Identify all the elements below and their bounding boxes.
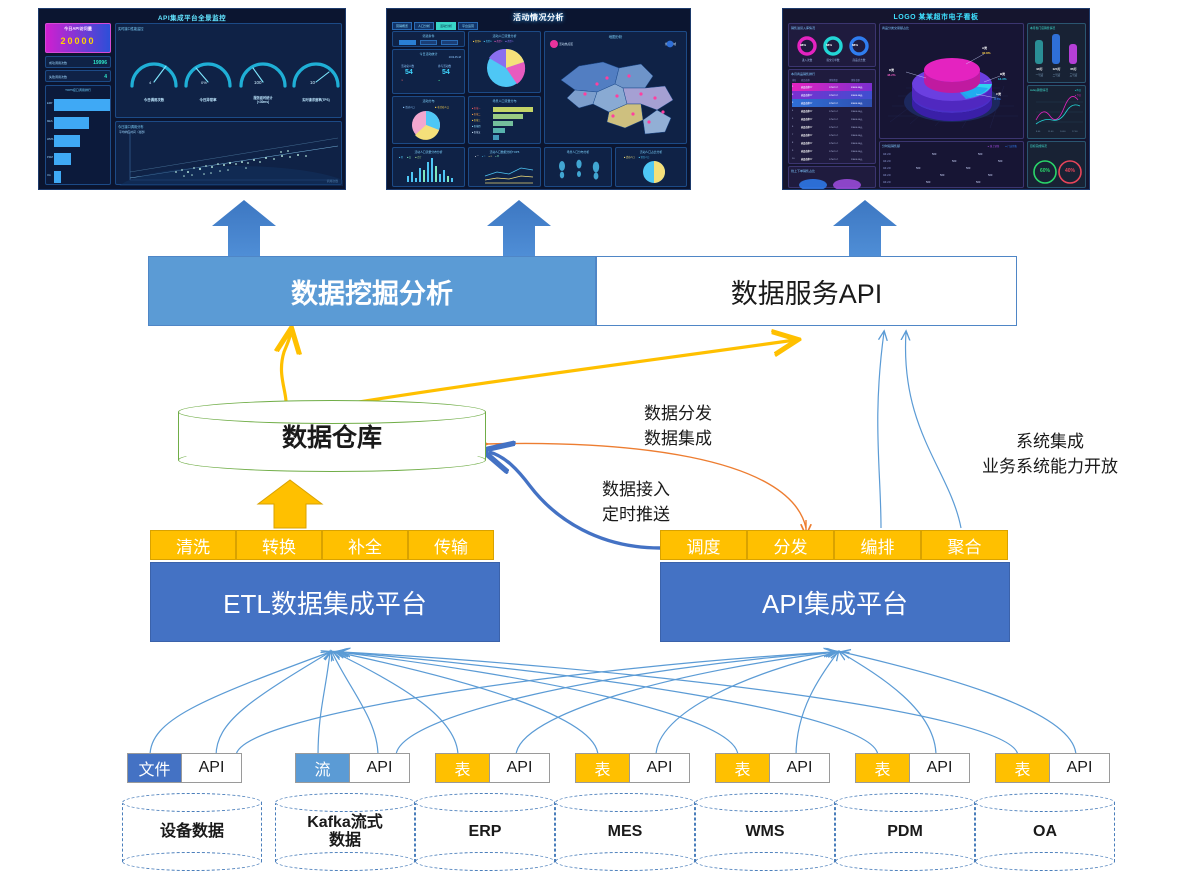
column-value: 123万 (1049, 67, 1064, 71)
source-cylinder-erp[interactable]: ERP (415, 793, 555, 871)
link-mes-api-to-apiplat (656, 652, 838, 756)
api-platform-label: API集成平台 (762, 584, 908, 621)
tab-item[interactable]: 营销概览 (392, 22, 412, 30)
source-api-badge[interactable]: API (770, 753, 830, 783)
donut-value: 98% (800, 43, 806, 47)
entry-donut-panel: 销售进货入库情况 98% 88% 88% 进入次数 提交订单数 商品点击数 (788, 23, 876, 67)
metric-success-label: 成功调用次数 (49, 61, 67, 65)
metric-label: 参与活动数 (438, 64, 451, 68)
table-header: 销售金额 (851, 78, 872, 82)
map-legend-right: 重点区域 (665, 42, 676, 46)
kpi-value: 20000 (46, 36, 110, 46)
svg-text:560: 560 (926, 180, 931, 184)
gauge-value: 4 (149, 80, 151, 85)
api-platform-box[interactable]: API集成平台 (660, 562, 1010, 642)
map-panel: 地图分析 活动热点区 重点区域 (544, 31, 687, 144)
bottom-ratio-panel: 活动人口占比分析 ■ 活动人口 ■ 常住人口 (615, 147, 687, 187)
annotation-ingest: 数据接入 定时推送 (566, 478, 706, 527)
hourly-sales-title: 分时段销售额 (882, 144, 900, 148)
summary-panel-title: 今日活动统计 (393, 52, 464, 56)
link-mes-to-etl (336, 652, 598, 756)
activity-pie-title: 活动分布 (393, 99, 464, 103)
realtime-list-panel (690, 9, 691, 11)
svg-text:560: 560 (932, 152, 937, 156)
metric-success-value: 19996 (93, 60, 107, 66)
activity-pie-panel: 活动分布 ■ 活动人口 ■ 非活动人口 (392, 96, 465, 144)
product-rank-title: 本月商品销售排行 (791, 72, 815, 76)
source-api-badge[interactable]: API (182, 753, 242, 783)
svg-text:560: 560 (952, 159, 957, 163)
pie-value: 3.7% (994, 97, 1001, 101)
gauge-value: 0% (201, 80, 207, 85)
link-wms-to-etl (338, 652, 738, 756)
table-row: 4商品名称TT1750人人23600.00元 (792, 107, 872, 115)
tab-item[interactable]: 活动分析 (436, 22, 456, 30)
table-row: 10商品名称TT1750人人23600.00元 (792, 155, 872, 163)
warehouse-label: 数据仓库 (178, 400, 486, 472)
source-label: ERP (415, 793, 555, 871)
svg-text:560: 560 (966, 166, 971, 170)
legend-item: 线上销售 (990, 145, 1000, 148)
architecture-diagram: API集成平台全景监控 今日API访问量 20000 成功调用次数 19996 … (0, 0, 1200, 878)
table-header: 排名 (792, 78, 801, 82)
flow-pie-panel: 活动人口流量分析 ■ 类型A ■ 类型B ■ 类型C ■ 类型D (468, 31, 541, 93)
top5-bar-panel: TOP5接口调用排行 ERP MES WMS PDM OA (45, 85, 111, 185)
source-api-badge[interactable]: API (630, 753, 690, 783)
tab-item[interactable]: 人口分析 (414, 22, 434, 30)
bottom-top5-panel: 活动人口数据分析TOP5 ● 一● 二 ● 三● 四 (468, 147, 541, 187)
service-box-label: 数据服务API (731, 272, 883, 311)
dashboard-title: LOGO 某某超市电子看板 (783, 12, 1089, 22)
pie-value: 32.8% (982, 51, 991, 55)
service-box-label: 数据挖掘分析 (291, 272, 453, 311)
link-device-api-to-etl (216, 652, 330, 756)
link-device-to-etl (150, 652, 330, 756)
etl-chip[interactable]: 补全 (322, 530, 408, 560)
link-kafka-api-to-etl (332, 652, 378, 756)
pie-label: D类 (889, 68, 894, 72)
gauge-label: 今日调用次数 (130, 97, 178, 102)
source-kind-badge: 表 (715, 753, 770, 783)
store-sales-panel: 本月各门店销售情况 98万 123万 66万 一号店 二号店 三号店 (1027, 23, 1086, 83)
tab-item[interactable]: 平台运营 (458, 22, 478, 30)
target-progress-panel: 目标完成情况 60% 40% (1027, 141, 1086, 188)
svg-text:17:00: 17:00 (1072, 131, 1078, 133)
donut-value: 88% (826, 43, 832, 47)
etl-chip[interactable]: 传输 (408, 530, 494, 560)
dashboard-title: API集成平台全景监控 (39, 12, 345, 22)
source-cylinder-wms[interactable]: WMS (695, 793, 835, 871)
bottom-bar-title: 活动人口流量分布分析 (393, 150, 464, 154)
bottom-ratio-title: 活动人口占比分析 (616, 150, 686, 154)
bottom-scene-title: 场景人口分布分析 (545, 150, 611, 154)
source-kind-badge: 表 (855, 753, 910, 783)
bottom-bar-panel: 活动人口流量分布分析 ■ 男 ■ 女 ■ 合计 (392, 147, 465, 187)
kpi-panel: 今日API访问量 20000 (45, 23, 111, 53)
source-label: OA (975, 793, 1115, 871)
gauge-panel-title: 实时接口性能监控 (118, 26, 144, 31)
source-kind-badge: 文件 (127, 753, 182, 783)
column-label: 一号店 (1032, 73, 1047, 77)
pie-value: 48.2% (887, 73, 896, 77)
bar-label: PDM (47, 156, 53, 159)
map-panel-title: 地图分析 (545, 34, 686, 39)
link-erp-api-to-apiplat (516, 652, 836, 756)
source-kind-badge: 流 (295, 753, 350, 783)
flow-pie-title: 活动人口流量分析 (469, 34, 540, 38)
summary-date: 2019-05-18 (449, 56, 461, 59)
link-kafka-api-to-apiplat (396, 652, 834, 756)
source-api-badge[interactable]: API (490, 753, 550, 783)
table-row: 3商品名称TT1750人人23600.00元 (792, 99, 872, 107)
source-cylinder-pdm[interactable]: PDM (835, 793, 975, 871)
api-chip[interactable]: 调度 (660, 530, 747, 560)
online-ratio-panel: 线上下单销售占比 (788, 166, 876, 188)
table-row: 5商品名称TT1750人人23600.00元 (792, 115, 872, 123)
source-api-badge[interactable]: API (350, 753, 410, 783)
svg-text:04:20: 04:20 (883, 159, 891, 163)
metric-success-panel: 成功调用次数 19996 (45, 56, 111, 68)
pie-value: 14.3% (998, 77, 1007, 81)
metric-label: 活动总人数 (401, 64, 414, 68)
scene-bar-panel: 场景人口流量分布 ■ 区域一 ■ 区域二 ■ 区域三 ■ 区域四 ■ 区域五 (468, 96, 541, 144)
api-chip[interactable]: 聚合 (921, 530, 1008, 560)
source-label: Kafka流式 数据 (275, 793, 415, 871)
source-tag-wms[interactable]: 表 API (715, 753, 830, 783)
etl-platform-label: ETL数据集成平台 (223, 584, 427, 621)
link-device-api-to-apiplat (236, 652, 832, 756)
svg-text:560: 560 (940, 173, 945, 177)
gauge-value: 60% (1036, 168, 1054, 174)
filter-panel-title: 筛选条件 (393, 34, 464, 38)
block-arrow-up-1 (212, 200, 276, 256)
api-chip[interactable]: 编排 (834, 530, 921, 560)
column-label: 三号店 (1066, 73, 1081, 77)
bar-label: MES (47, 120, 53, 123)
pie-label: C类 (996, 92, 1001, 96)
table-row: 8商品名称TT1750人人23600.00元 (792, 139, 872, 147)
scatter-y-label: 平均响应时间（毫秒） (119, 130, 147, 134)
column-value: 98万 (1032, 67, 1047, 71)
svg-text:04:20: 04:20 (883, 152, 891, 156)
scene-bar-title: 场景人口流量分布 (469, 99, 540, 103)
today-sales-panel: today销售情况 8:0011:0014:0017:00 ● 昨日 ● 今日 (1027, 85, 1086, 139)
store-sales-title: 本月各门店销售情况 (1030, 26, 1055, 30)
source-cylinder-kafka[interactable]: Kafka流式 数据 (275, 793, 415, 871)
bar-label: WMS (47, 138, 53, 141)
table-header: 销售数量 (829, 78, 851, 82)
svg-text:560: 560 (976, 180, 981, 184)
table-row: 7商品名称TT1750人人23600.00元 (792, 131, 872, 139)
summary-panel: 今日活动统计 2019-05-18 活动总人数 参与活动数 54 54 ▼ ▲ (392, 49, 465, 94)
source-label: PDM (835, 793, 975, 871)
link-wms-api-to-apiplat (796, 652, 838, 756)
link-kafka-to-etl (318, 652, 330, 756)
data-warehouse[interactable]: 数据仓库 (178, 400, 486, 472)
top5-bar-title: TOP5接口调用排行 (46, 88, 110, 92)
column-label: 二号店 (1049, 73, 1064, 77)
api-chip[interactable]: 分发 (747, 530, 834, 560)
column-value: 66万 (1066, 67, 1081, 71)
donut-label: 进入次数 (795, 58, 819, 62)
svg-text:560: 560 (998, 159, 1003, 163)
metric-value: 54 (442, 69, 450, 76)
donut-label: 商品点击数 (847, 58, 871, 62)
link-pdm-api-to-apiplat (840, 652, 936, 756)
svg-text:560: 560 (916, 166, 921, 170)
service-box-data-mining[interactable]: 数据挖掘分析 (148, 256, 596, 326)
category-pie-title: 商品分类交易额占比 (882, 26, 909, 30)
gauge-label: 今日异常率 (184, 97, 232, 102)
bar-label: OA (47, 174, 51, 177)
svg-text:8:00: 8:00 (1036, 131, 1041, 133)
source-label: MES (555, 793, 695, 871)
metric-value: 54 (405, 69, 413, 76)
pie-label: B类 (1000, 72, 1005, 76)
table-row: 9商品名称TT1750人人23600.00元 (792, 147, 872, 155)
gauge-value: 100 (254, 80, 262, 85)
source-cylinder-device[interactable]: 设备数据 (122, 793, 262, 871)
dashboard-thumbnail-activity-analysis[interactable]: 活动情况分析 营销概览 人口分析 活动分析 平台运营 筛选条件 今日活动统计 2… (386, 8, 691, 190)
etl-platform-box[interactable]: ETL数据集成平台 (150, 562, 500, 642)
arrow-orchestrate-to-api-service (878, 332, 884, 528)
etl-chip[interactable]: 清洗 (150, 530, 236, 560)
source-kind-badge: 表 (995, 753, 1050, 783)
svg-text:04:20: 04:20 (883, 173, 891, 177)
gauge-label: 实时请求速率(TPS) (292, 97, 340, 102)
kpi-title: 今日API访问量 (46, 26, 110, 32)
scatter-panel-title: 今日接口调用分布 (118, 124, 144, 129)
link-pdm-to-etl (340, 652, 878, 756)
map-legend-left: 活动热点区 (559, 42, 573, 46)
dashboard-thumbnail-supermarket-board[interactable]: LOGO 某某超市电子看板 销售进货入库情况 98% 88% 88% 进入次数 … (782, 8, 1090, 190)
legend-item: 门店销售 (1007, 145, 1017, 148)
block-arrow-up-3 (833, 200, 897, 256)
scatter-x-label: 调用次数 (327, 179, 338, 183)
table-row: 1商品名称TT1750人人23600.00元 (792, 83, 872, 91)
entry-donut-title: 销售进货入库情况 (791, 26, 815, 30)
donut-label: 提交订单数 (821, 58, 845, 62)
source-tag-device[interactable]: 文件 API (127, 753, 242, 783)
pie-label: A类 (982, 46, 987, 50)
source-cylinder-oa[interactable]: OA (975, 793, 1115, 871)
link-oa-to-etl (342, 652, 1018, 756)
scatter-panel: 今日接口调用分布 平均响应时间（毫秒） 调用次数 (115, 121, 342, 185)
source-label: WMS (695, 793, 835, 871)
source-tag-kafka[interactable]: 流 API (295, 753, 410, 783)
today-sales-title: today销售情况 (1030, 88, 1048, 92)
source-cylinder-mes[interactable]: MES (555, 793, 695, 871)
source-tag-oa[interactable]: 表 API (995, 753, 1110, 783)
dashboard-tabs[interactable]: 营销概览 人口分析 活动分析 平台运营 (392, 22, 478, 30)
source-tag-mes[interactable]: 表 API (575, 753, 690, 783)
bottom-top5-title: 活动人口数据分析TOP5 (469, 150, 540, 154)
block-arrow-up-2 (487, 200, 551, 256)
dashboard-thumbnail-api-monitor[interactable]: API集成平台全景监控 今日API访问量 20000 成功调用次数 19996 … (38, 8, 346, 190)
svg-text:11:00: 11:00 (1048, 131, 1054, 133)
source-label: 设备数据 (122, 793, 262, 871)
gauge-value: 10 (310, 80, 315, 85)
block-arrow-etl-to-warehouse (258, 480, 322, 528)
link-oa-api-to-apiplat (842, 652, 1076, 756)
category-pie-panel: 商品分类交易额占比 A类 32.8% (879, 23, 1024, 139)
annotation-distribute: 数据分发 数据集成 (608, 402, 748, 451)
source-tag-erp[interactable]: 表 API (435, 753, 550, 783)
annotation-system-integration: 系统集成 业务系统能力开放 (950, 430, 1150, 479)
source-api-badge[interactable]: API (1050, 753, 1110, 783)
metric-fail-value: 4 (104, 74, 107, 80)
gauge-value: 40% (1061, 168, 1079, 174)
svg-text:14:00: 14:00 (1060, 131, 1066, 133)
source-api-badge[interactable]: API (910, 753, 970, 783)
metric-fail-label: 失败调用次数 (49, 75, 67, 79)
svg-text:560: 560 (978, 152, 983, 156)
svg-text:04:20: 04:20 (883, 166, 891, 170)
online-ratio-title: 线上下单销售占比 (791, 169, 815, 173)
table-row: 2商品名称TT1750人人23600.00元 (792, 91, 872, 99)
product-rank-panel: 本月商品销售排行 排名 商品名称 销售数量 销售金额 1商品名称TT1750人人… (788, 69, 876, 164)
svg-text:560: 560 (988, 173, 993, 177)
service-box-data-api[interactable]: 数据服务API (596, 256, 1017, 326)
metric-fail-panel: 失败调用次数 4 (45, 70, 111, 82)
bar-label: ERP (47, 102, 52, 105)
target-progress-title: 目标完成情况 (1030, 144, 1047, 148)
bottom-scene-panel: 场景人口分布分析 (544, 147, 612, 187)
source-kind-badge: 表 (575, 753, 630, 783)
source-tag-pdm[interactable]: 表 API (855, 753, 970, 783)
gauge-panel: 实时接口性能监控 4 0% 100 10 今日调用次数 (115, 23, 342, 118)
filter-panel: 筛选条件 (392, 31, 465, 47)
source-kind-badge: 表 (435, 753, 490, 783)
hourly-sales-panel: 分时段销售额 ● 线上销售 ● 门店销售 04:2004:2004:20 04:… (879, 141, 1024, 188)
table-header: 商品名称 (801, 78, 829, 82)
api-chip-row: 调度 分发 编排 聚合 (660, 530, 1008, 560)
etl-chip[interactable]: 转换 (236, 530, 322, 560)
donut-value: 88% (852, 43, 858, 47)
etl-chip-row: 清洗 转换 补全 传输 (150, 530, 494, 560)
link-erp-to-etl (334, 652, 458, 756)
table-row: 6商品名称TT1750人人23600.00元 (792, 123, 872, 131)
svg-text:04:20: 04:20 (883, 180, 891, 184)
gauge-label: 服务延时统计 (<30ms) (239, 97, 287, 105)
